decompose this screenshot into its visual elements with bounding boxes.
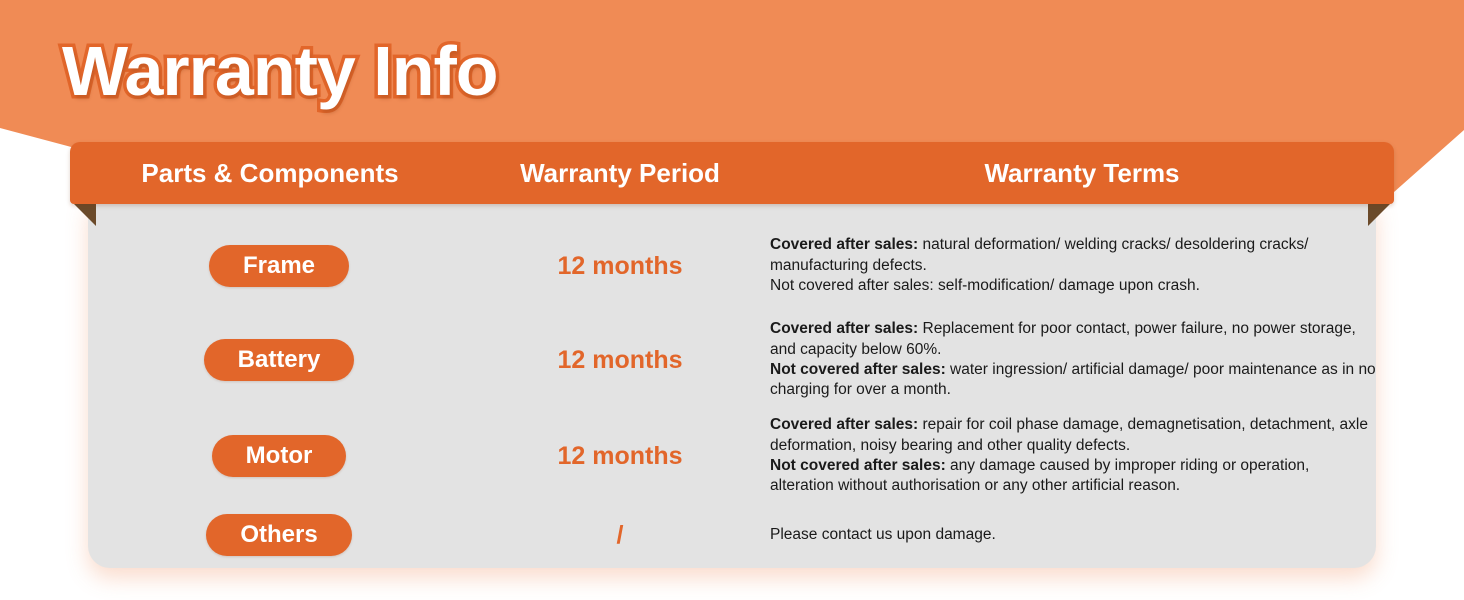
terms-label: Not covered after sales:	[770, 457, 946, 474]
terms-line: Covered after sales: Replacement for poo…	[770, 319, 1376, 360]
terms-body: self-modification/ damage upon crash.	[934, 277, 1200, 294]
cell-part: Others	[88, 504, 470, 566]
column-header-period: Warranty Period	[470, 158, 770, 189]
terms-line: Covered after sales: natural deformation…	[770, 235, 1376, 276]
terms-label: Not covered after sales:	[770, 277, 934, 294]
cell-terms: Covered after sales: natural deformation…	[770, 220, 1376, 312]
cell-terms: Covered after sales: repair for coil pha…	[770, 408, 1376, 504]
table-row: Battery 12 months Covered after sales: R…	[88, 312, 1376, 408]
table-row: Motor 12 months Covered after sales: rep…	[88, 408, 1376, 504]
terms-line: Please contact us upon damage.	[770, 525, 996, 545]
cell-period: 12 months	[470, 220, 770, 312]
cell-period: /	[470, 504, 770, 566]
cell-period: 12 months	[470, 312, 770, 408]
column-header-parts: Parts & Components	[70, 158, 470, 189]
terms-line: Not covered after sales: self-modificati…	[770, 276, 1376, 296]
terms-label: Covered after sales:	[770, 320, 918, 337]
cell-part: Battery	[88, 312, 470, 408]
warranty-info-page: Warranty Info Parts & Components Warrant…	[0, 0, 1464, 600]
table-rows: Frame 12 months Covered after sales: nat…	[88, 200, 1376, 568]
column-header-terms: Warranty Terms	[770, 158, 1394, 189]
terms-line: Covered after sales: repair for coil pha…	[770, 415, 1376, 456]
table-row: Frame 12 months Covered after sales: nat…	[88, 220, 1376, 312]
terms-label: Covered after sales:	[770, 236, 918, 253]
terms-body: Please contact us upon damage.	[770, 526, 996, 543]
terms-label: Not covered after sales:	[770, 361, 946, 378]
page-title: Warranty Info	[62, 36, 498, 106]
part-badge: Motor	[212, 435, 347, 477]
part-badge: Others	[206, 514, 351, 556]
terms-line: Not covered after sales: any damage caus…	[770, 456, 1376, 497]
part-badge: Frame	[209, 245, 349, 287]
cell-period: 12 months	[470, 408, 770, 504]
part-badge: Battery	[204, 339, 355, 381]
table-header-row: Parts & Components Warranty Period Warra…	[70, 142, 1394, 204]
table-row: Others / Please contact us upon damage.	[88, 504, 1376, 566]
terms-label: Covered after sales:	[770, 416, 918, 433]
terms-line: Not covered after sales: water ingressio…	[770, 360, 1376, 401]
cell-terms: Please contact us upon damage.	[770, 504, 1376, 566]
cell-terms: Covered after sales: Replacement for poo…	[770, 312, 1376, 408]
cell-part: Frame	[88, 220, 470, 312]
cell-part: Motor	[88, 408, 470, 504]
